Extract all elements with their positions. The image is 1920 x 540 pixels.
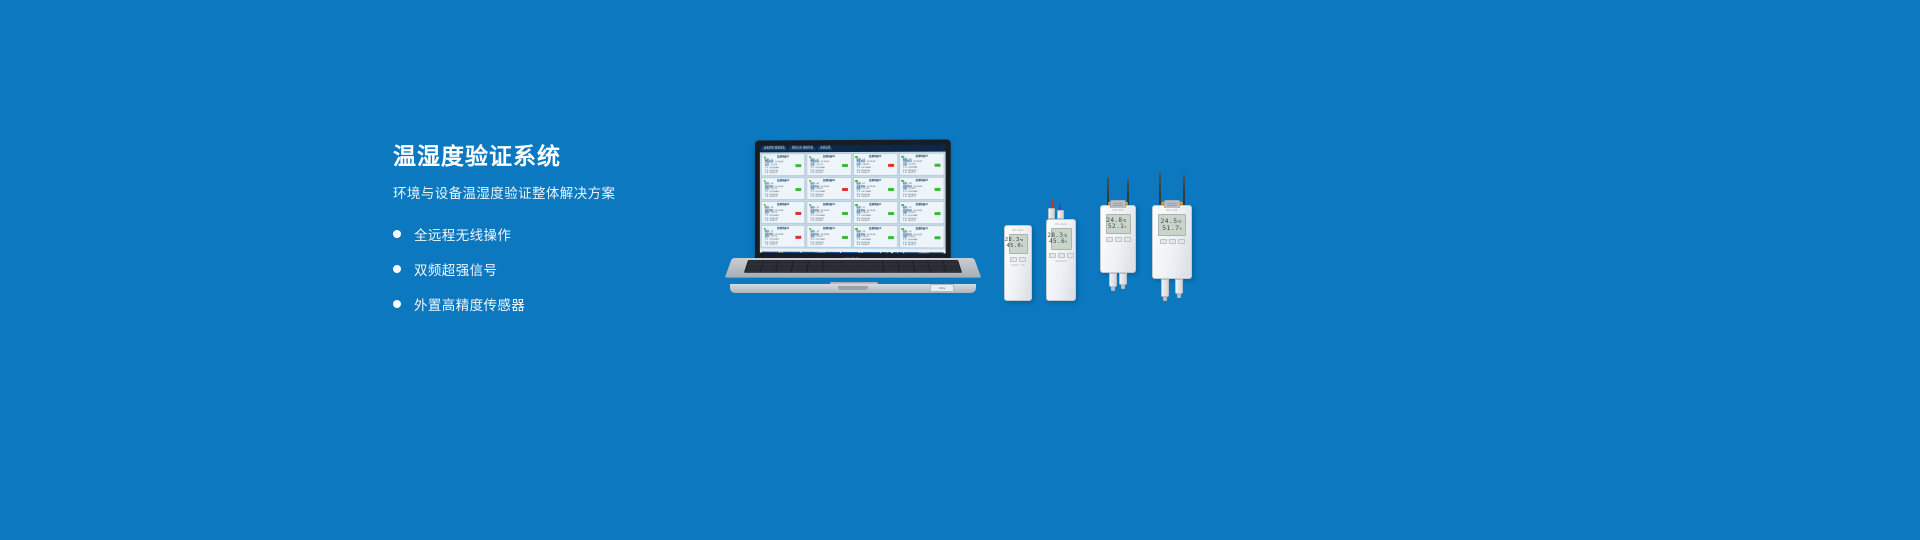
monitor-card-value: 25.05℃ (861, 196, 869, 199)
monitor-card-row: T 3:25.00℃ (765, 220, 802, 223)
status-dot-icon (901, 155, 904, 158)
keyboard-key[interactable] (745, 270, 760, 272)
monitor-card-row: T 3:25.00℃ (856, 244, 893, 247)
device-compact-recorder: RC-4HC 28.3℃ 45.6% TEMP / RH (1004, 225, 1032, 301)
list-item: 双频超强信号 (393, 259, 723, 279)
status-chip (888, 212, 894, 214)
monitor-card-rows: 编号:01采集时间:11:25:03温度:21.3℃T 1:22.6%RHT 2… (762, 159, 805, 175)
monitor-card-key: T 3: (856, 220, 860, 223)
device-footer-label: SENSOR (1055, 260, 1066, 263)
external-probe-icon (1175, 279, 1183, 294)
device-key[interactable] (1058, 253, 1065, 258)
device-key[interactable] (1115, 237, 1122, 242)
lcd-display: 24.8℃ 52.1% (1106, 214, 1131, 234)
monitor-card-key: T 3: (810, 196, 814, 199)
lcd-humidity: 45.6% (1006, 244, 1023, 250)
device-footer-label: TEMP / RH (1011, 264, 1025, 267)
carry-handle-icon (1164, 200, 1180, 208)
external-probe-icon (1161, 279, 1169, 297)
keyboard-key[interactable] (807, 270, 822, 272)
antenna-icon (1183, 175, 1185, 205)
status-chip (796, 236, 802, 238)
device-brand-label: RC-4HC (1012, 229, 1024, 232)
monitor-card-rows: 编号:15采集时间:11:25:06温度:20.9℃T 1:24.3%RHT 2… (853, 231, 896, 247)
feature-label: 双频超强信号 (414, 259, 497, 279)
monitor-card-row: T 3:25.01℃ (765, 172, 802, 175)
monitor-card[interactable]: 监测终端07编号:07采集时间:11:25:04温度:21.1℃T 1:24.7… (852, 177, 897, 200)
keyboard-key[interactable] (930, 270, 945, 272)
monitor-card[interactable]: 监测终端09编号:09采集时间:11:25:05温度:20.5℃T 1:26.0… (761, 201, 806, 224)
menu-item[interactable]: 报表分析 曲线查看 (790, 147, 815, 151)
monitor-card-value: 25.02℃ (815, 244, 823, 247)
monitor-card-rows: 编号:16采集时间:11:25:06温度:23.5℃T 1:22.8%RHT 2… (900, 231, 944, 248)
keyboard-key[interactable] (822, 270, 837, 272)
device-key[interactable] (1160, 239, 1167, 244)
monitor-card-value: 25.03℃ (861, 220, 869, 223)
monitor-card-key: T 3: (765, 220, 769, 223)
monitor-card-value: 25.00℃ (861, 172, 869, 175)
monitor-card-value: 25.05℃ (908, 245, 916, 248)
bullet-dot-icon (393, 230, 401, 238)
lcd-humidity: 51.7% (1162, 225, 1182, 232)
keyboard-row (745, 270, 961, 272)
keyboard-key[interactable] (946, 270, 961, 272)
monitor-card-key: T 3: (810, 220, 814, 223)
status-chip (888, 188, 894, 190)
monitor-card-row: T 3:25.05℃ (856, 196, 893, 199)
device-key[interactable] (1067, 253, 1074, 258)
device-key[interactable] (1019, 257, 1026, 262)
monitor-card-key: T 3: (856, 196, 860, 199)
antenna-icon (1159, 173, 1161, 205)
monitor-card-row: T 3:25.04℃ (903, 172, 941, 175)
status-dot-icon (855, 155, 857, 158)
device-wireless-logger-b: WS-200 24.5℃ 51.7% (1152, 205, 1192, 279)
monitor-card[interactable]: 监测终端02编号:02采集时间:11:25:03温度:22.1℃T 1:23.5… (806, 153, 851, 176)
monitor-card[interactable]: 监测终端06编号:06采集时间:11:25:04温度:23.0℃T 1:25.2… (806, 177, 851, 200)
status-dot-icon (901, 179, 904, 182)
status-dot-icon (855, 180, 857, 183)
status-dot-icon (763, 180, 765, 182)
monitor-card-row: T 3:25.04℃ (765, 244, 802, 247)
feature-label: 外置高精度传感器 (414, 294, 525, 314)
monitor-card-row: T 3:25.01℃ (903, 221, 941, 224)
monitor-card-row: T 3:25.01℃ (810, 196, 847, 199)
keyboard-key[interactable] (853, 270, 868, 272)
monitor-card-row: T 3:25.02℃ (903, 196, 941, 199)
device-key[interactable] (1049, 253, 1056, 258)
device-probe-recorder: RC-4HA 28.3℃ 45.6% SENSOR (1046, 219, 1076, 301)
device-key[interactable] (1124, 237, 1131, 242)
keyboard-key[interactable] (900, 270, 915, 272)
monitor-card-grid: 监测终端01编号:01采集时间:11:25:03温度:21.3℃T 1:22.6… (760, 152, 946, 250)
external-probe-icon (1119, 273, 1127, 285)
monitor-card-rows: 编号:14采集时间:11:25:06温度:22.6℃T 1:23.7%RHT 2… (807, 231, 850, 247)
laptop-lid: 设备管理 数据采集 报表分析 曲线查看 系统设置 监测终端01编号:01采集时间… (755, 139, 951, 262)
status-chip (796, 164, 802, 166)
device-brand-label: WS-200 (1112, 209, 1123, 212)
status-dot-icon (809, 228, 811, 230)
laptop-base: Ultra (722, 258, 984, 296)
status-chip (842, 188, 848, 190)
monitor-card-value: 25.06℃ (815, 220, 823, 223)
monitor-card[interactable]: 监测终端10编号:10采集时间:11:25:05温度:21.7℃T 1:22.4… (806, 201, 851, 224)
monitor-card-row: T 3:25.03℃ (765, 196, 802, 199)
status-dot-icon (809, 180, 811, 182)
monitor-card-key: T 3: (856, 244, 860, 247)
monitor-card-key: T 3: (903, 245, 907, 248)
monitor-card-value: 25.04℃ (908, 172, 916, 175)
external-probe-icon (1109, 273, 1117, 287)
device-keypad[interactable] (1049, 253, 1074, 258)
status-dot-icon (809, 156, 811, 159)
lcd-display: 28.3℃ 45.6% (1009, 234, 1028, 254)
lcd-humidity: 52.1% (1108, 224, 1126, 230)
status-chip (842, 236, 848, 238)
copy-block: 温湿度验证系统 环境与设备温湿度验证整体解决方案 全远程无线操作 双频超强信号 … (393, 143, 723, 329)
device-brand-label: WS-200 (1166, 209, 1177, 212)
keyboard-key[interactable] (884, 270, 899, 272)
monitor-card-value: 25.03℃ (770, 196, 778, 199)
keyboard-key[interactable] (869, 270, 884, 272)
monitor-card-row: T 3:25.02℃ (810, 244, 847, 247)
monitor-card-rows: 编号:03采集时间:11:25:03温度:20.8℃T 1:24.1%RHT 2… (853, 159, 896, 175)
monitor-card[interactable]: 监测终端11编号:11采集时间:11:25:05温度:23.2℃T 1:24.9… (852, 201, 897, 224)
feature-label: 全远程无线操作 (414, 224, 511, 244)
monitor-card-key: T 3: (765, 173, 769, 176)
device-key[interactable] (1169, 239, 1176, 244)
monitor-card-key: T 3: (903, 221, 907, 224)
device-keypad[interactable] (1010, 257, 1026, 262)
monitor-card-key: T 3: (903, 172, 907, 175)
monitor-card-value: 25.00℃ (861, 245, 869, 248)
status-dot-icon (855, 228, 857, 231)
monitor-card-row: T 3:25.02℃ (810, 172, 847, 175)
monitor-card-key: T 3: (810, 244, 814, 247)
status-dot-icon (763, 204, 765, 206)
status-badge: Ultra (930, 284, 954, 292)
monitor-card[interactable]: 监测终端16编号:16采集时间:11:25:06温度:23.5℃T 1:22.8… (899, 225, 945, 248)
sensor-cap-icon (1057, 210, 1064, 219)
status-chip (796, 212, 802, 214)
monitor-card[interactable]: 监测终端15编号:15采集时间:11:25:06温度:20.9℃T 1:24.3… (852, 225, 897, 248)
monitor-card-rows: 编号:09采集时间:11:25:05温度:20.5℃T 1:26.0%RHT 2… (762, 207, 805, 223)
keyboard-key[interactable] (838, 270, 853, 272)
menu-item[interactable]: 设备管理 数据采集 (762, 147, 787, 151)
device-group: RC-4HC 28.3℃ 45.6% TEMP / RH RC-4HA (1000, 180, 1230, 315)
monitor-card-key: T 3: (810, 172, 814, 175)
monitor-card-rows: 编号:10采集时间:11:25:05温度:21.7℃T 1:22.4%RHT 2… (807, 207, 850, 223)
monitor-card-rows: 编号:05采集时间:11:25:04温度:22.4℃T 1:22.9%RHT 2… (762, 183, 805, 199)
status-chip (888, 236, 894, 238)
page-subtitle: 环境与设备温湿度验证整体解决方案 (393, 185, 723, 203)
antenna-icon (1107, 177, 1109, 205)
keyboard-key[interactable] (776, 270, 791, 272)
monitor-card-rows: 编号:06采集时间:11:25:04温度:23.0℃T 1:25.2%RHT 2… (807, 183, 850, 199)
monitor-card-rows: 编号:04采集时间:11:25:03温度:21.9℃T 1:23.8%RHT 2… (900, 158, 944, 175)
status-chip (842, 164, 848, 166)
status-chip (796, 188, 802, 190)
monitor-card-row: T 3:25.06℃ (810, 220, 847, 223)
monitor-card-value: 25.01℃ (908, 221, 916, 224)
lcd-display: 28.3℃ 45.6% (1051, 228, 1072, 250)
status-chip (842, 212, 848, 214)
product-banner: 温湿度验证系统 环境与设备温湿度验证整体解决方案 全远程无线操作 双频超强信号 … (0, 0, 1920, 540)
status-chip (934, 164, 940, 166)
monitor-card[interactable]: 监测终端01编号:01采集时间:11:25:03温度:21.3℃T 1:22.6… (761, 153, 806, 176)
menu-item[interactable]: 系统设置 (818, 147, 832, 151)
status-dot-icon (855, 204, 857, 207)
device-wireless-logger-a: WS-200 24.8℃ 52.1% (1100, 205, 1136, 273)
monitor-card-rows: 编号:13采集时间:11:25:06温度:21.4℃T 1:25.5%RHT 2… (762, 231, 805, 247)
monitor-card-key: T 3: (765, 196, 769, 199)
keyboard[interactable] (744, 260, 962, 273)
keyboard-key[interactable] (761, 270, 776, 272)
monitor-card-row: T 3:25.00℃ (856, 172, 893, 175)
device-brand-label: RC-4HA (1055, 223, 1066, 226)
monitor-card[interactable]: 监测终端12编号:12采集时间:11:25:05温度:22.0℃T 1:23.1… (899, 201, 945, 224)
carry-handle-icon (1110, 200, 1126, 208)
monitor-card[interactable]: 监测终端13编号:13采集时间:11:25:06温度:21.4℃T 1:25.5… (761, 225, 806, 248)
monitor-card-value: 25.04℃ (770, 244, 778, 247)
laptop-screen: 设备管理 数据采集 报表分析 曲线查看 系统设置 监测终端01编号:01采集时间… (760, 145, 946, 254)
list-item: 外置高精度传感器 (393, 294, 723, 314)
monitor-card-value: 25.01℃ (815, 196, 823, 199)
status-chip (934, 237, 940, 239)
status-chip (888, 164, 894, 166)
status-dot-icon (763, 227, 765, 229)
status-dot-icon (901, 228, 904, 231)
device-keypad[interactable] (1160, 239, 1185, 244)
status-chip (934, 212, 940, 214)
monitor-card[interactable]: 监测终端05编号:05采集时间:11:25:04温度:22.4℃T 1:22.9… (761, 177, 806, 200)
monitor-card-key: T 3: (856, 172, 860, 175)
monitor-card-row: T 3:25.03℃ (856, 220, 893, 223)
monitor-card[interactable]: 监测终端08编号:08采集时间:11:25:04温度:22.8℃T 1:23.3… (899, 177, 945, 200)
status-dot-icon (809, 204, 811, 206)
bullet-dot-icon (393, 265, 401, 273)
monitor-card-row: T 3:25.05℃ (903, 245, 941, 248)
status-dot-icon (763, 156, 765, 158)
device-key[interactable] (1106, 237, 1113, 242)
feature-list: 全远程无线操作 双频超强信号 外置高精度传感器 (393, 224, 723, 314)
keyboard-key[interactable] (792, 270, 807, 272)
lcd-humidity: 45.6% (1049, 239, 1067, 245)
monitor-card-key: T 3: (765, 244, 769, 247)
device-keypad[interactable] (1106, 237, 1131, 242)
monitor-card[interactable]: 监测终端14编号:14采集时间:11:25:06温度:22.6℃T 1:23.7… (806, 225, 851, 248)
laptop-illustration: 设备管理 数据采集 报表分析 曲线查看 系统设置 监测终端01编号:01采集时间… (722, 140, 984, 300)
monitor-card-title: 监测终端12 (916, 204, 928, 207)
monitor-card[interactable]: 监测终端03编号:03采集时间:11:25:03温度:20.8℃T 1:24.1… (852, 153, 897, 176)
monitor-card-value: 25.02℃ (908, 196, 916, 199)
bullet-dot-icon (393, 300, 401, 308)
monitor-card-rows: 编号:07采集时间:11:25:04温度:21.1℃T 1:24.7%RHT 2… (853, 183, 896, 199)
monitor-card-value: 25.01℃ (770, 173, 778, 176)
device-key[interactable] (1010, 257, 1017, 262)
sensor-cap-icon (1048, 208, 1055, 219)
keyboard-key[interactable] (915, 270, 930, 272)
monitor-card-key: T 3: (903, 196, 907, 199)
monitor-card-value: 25.00℃ (770, 220, 778, 223)
monitor-card-value: 25.02℃ (815, 172, 823, 175)
page-title: 温湿度验证系统 (393, 143, 723, 171)
list-item: 全远程无线操作 (393, 224, 723, 244)
monitor-card-rows: 编号:11采集时间:11:25:05温度:23.2℃T 1:24.9%RHT 2… (853, 207, 896, 223)
device-key[interactable] (1178, 239, 1185, 244)
lcd-display: 24.5℃ 51.7% (1158, 214, 1186, 236)
status-chip (934, 188, 940, 190)
laptop-open-notch (838, 286, 868, 290)
monitor-card-rows: 编号:08采集时间:11:25:04温度:22.8℃T 1:23.3%RHT 2… (900, 183, 944, 199)
monitor-card[interactable]: 监测终端04编号:04采集时间:11:25:03温度:21.9℃T 1:23.8… (899, 153, 945, 176)
status-dot-icon (901, 204, 904, 207)
monitor-card-rows: 编号:02采集时间:11:25:03温度:22.1℃T 1:23.5%RHT 2… (807, 159, 850, 175)
monitor-card-rows: 编号:12采集时间:11:25:05温度:22.0℃T 1:23.1%RHT 2… (900, 207, 944, 223)
